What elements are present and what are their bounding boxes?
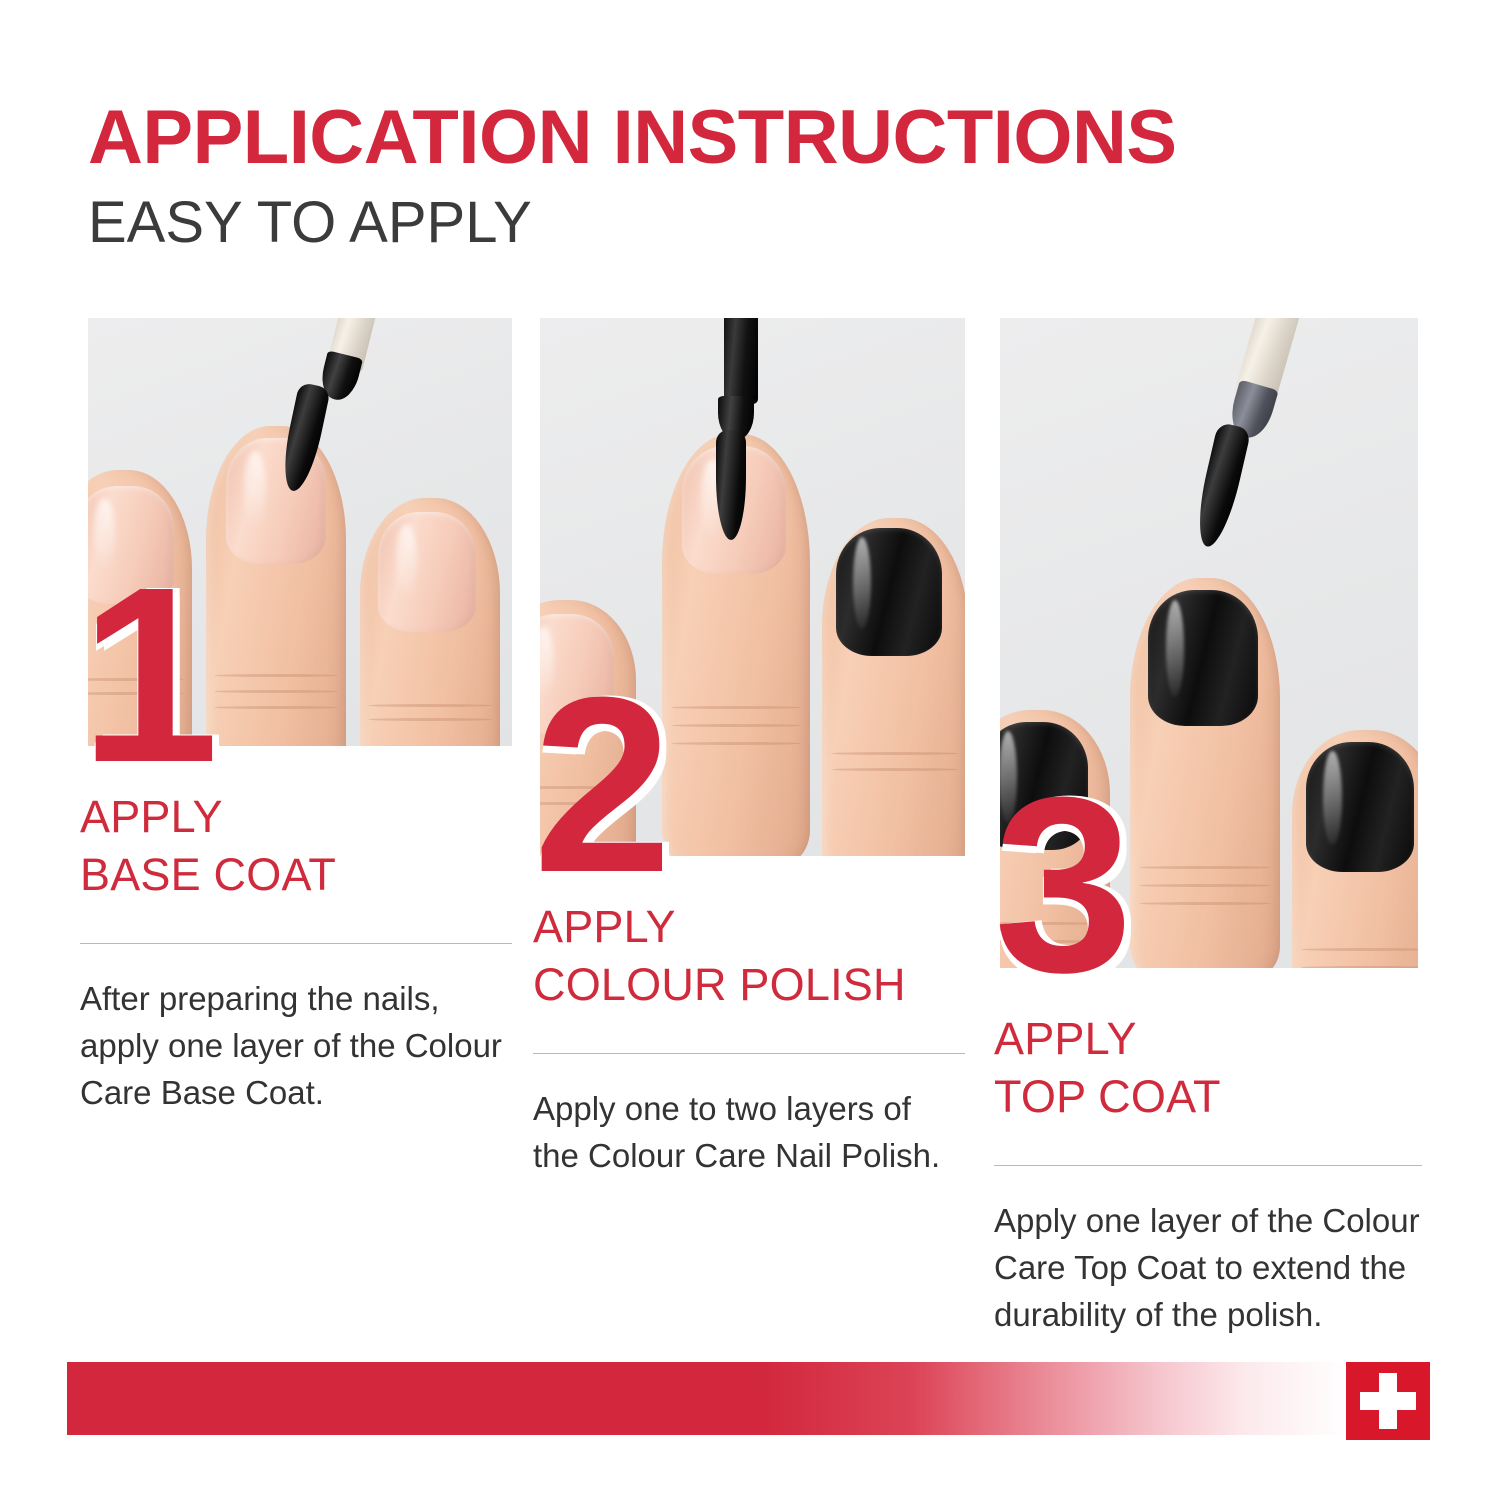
step-2-photo [540,318,965,856]
knuckle-crease [214,706,337,709]
brush-handle-icon [724,318,758,404]
step-card-3: 3 APPLY TOP COAT Apply one layer of the … [986,318,1418,968]
step-3-heading-line1: APPLY [994,1010,1221,1068]
nail-nude [540,614,614,734]
nail-black [1000,722,1088,850]
knuckle-crease [368,718,491,721]
step-2-heading: APPLY COLOUR POLISH [533,898,906,1013]
knuckle-crease [540,786,627,789]
nail-black [1306,742,1414,872]
step-1-heading-line2: BASE COAT [80,846,336,904]
step-1-body: After preparing the nails, apply one lay… [80,976,512,1117]
knuckle-crease [1000,922,1101,925]
knuckle-crease [1139,902,1271,905]
footer-gradient-bar [67,1362,1347,1435]
knuckle-crease [88,678,184,681]
nail-black [836,528,942,656]
step-card-1: 1 APPLY BASE COAT After preparing the na… [80,318,512,746]
step-2-heading-line2: COLOUR POLISH [533,956,906,1014]
step-3-heading: APPLY TOP COAT [994,1010,1221,1125]
step-3-photo [1000,318,1418,968]
step-1-heading-line1: APPLY [80,788,336,846]
knuckle-crease [831,752,960,755]
knuckle-crease [1139,884,1271,887]
knuckle-crease [368,704,491,707]
nail-nude [88,486,174,604]
step-2-heading-line1: APPLY [533,898,906,956]
step-2-body: Apply one to two layers of the Colour Ca… [533,1086,965,1180]
step-2-divider [533,1053,965,1054]
page-subtitle: EASY TO APPLY [88,194,1428,252]
knuckle-crease [1301,966,1418,968]
knuckle-crease [671,706,801,709]
step-3-body: Apply one layer of the Colour Care Top C… [994,1198,1426,1339]
knuckle-crease [831,768,960,771]
step-1-photo [88,318,512,746]
page-title: APPLICATION INSTRUCTIONS [88,100,1428,176]
knuckle-crease [540,802,627,805]
step-card-2: 2 APPLY COLOUR POLISH Apply one to two l… [533,318,965,856]
cross-vertical-bar [1379,1373,1397,1429]
page-header: APPLICATION INSTRUCTIONS EASY TO APPLY [88,100,1428,252]
knuckle-crease [671,724,801,727]
knuckle-crease [214,674,337,677]
knuckle-crease [88,692,184,695]
step-3-divider [994,1165,1422,1166]
step-1-divider [80,943,512,944]
nail-black [1148,590,1258,726]
knuckle-crease [1000,940,1101,943]
step-3-heading-line2: TOP COAT [994,1068,1221,1126]
knuckle-crease [1139,866,1271,869]
knuckle-crease [1301,948,1418,951]
nail-nude [378,512,476,632]
swiss-cross-icon [1346,1362,1430,1440]
step-1-heading: APPLY BASE COAT [80,788,336,903]
knuckle-crease [671,742,801,745]
knuckle-crease [214,690,337,693]
